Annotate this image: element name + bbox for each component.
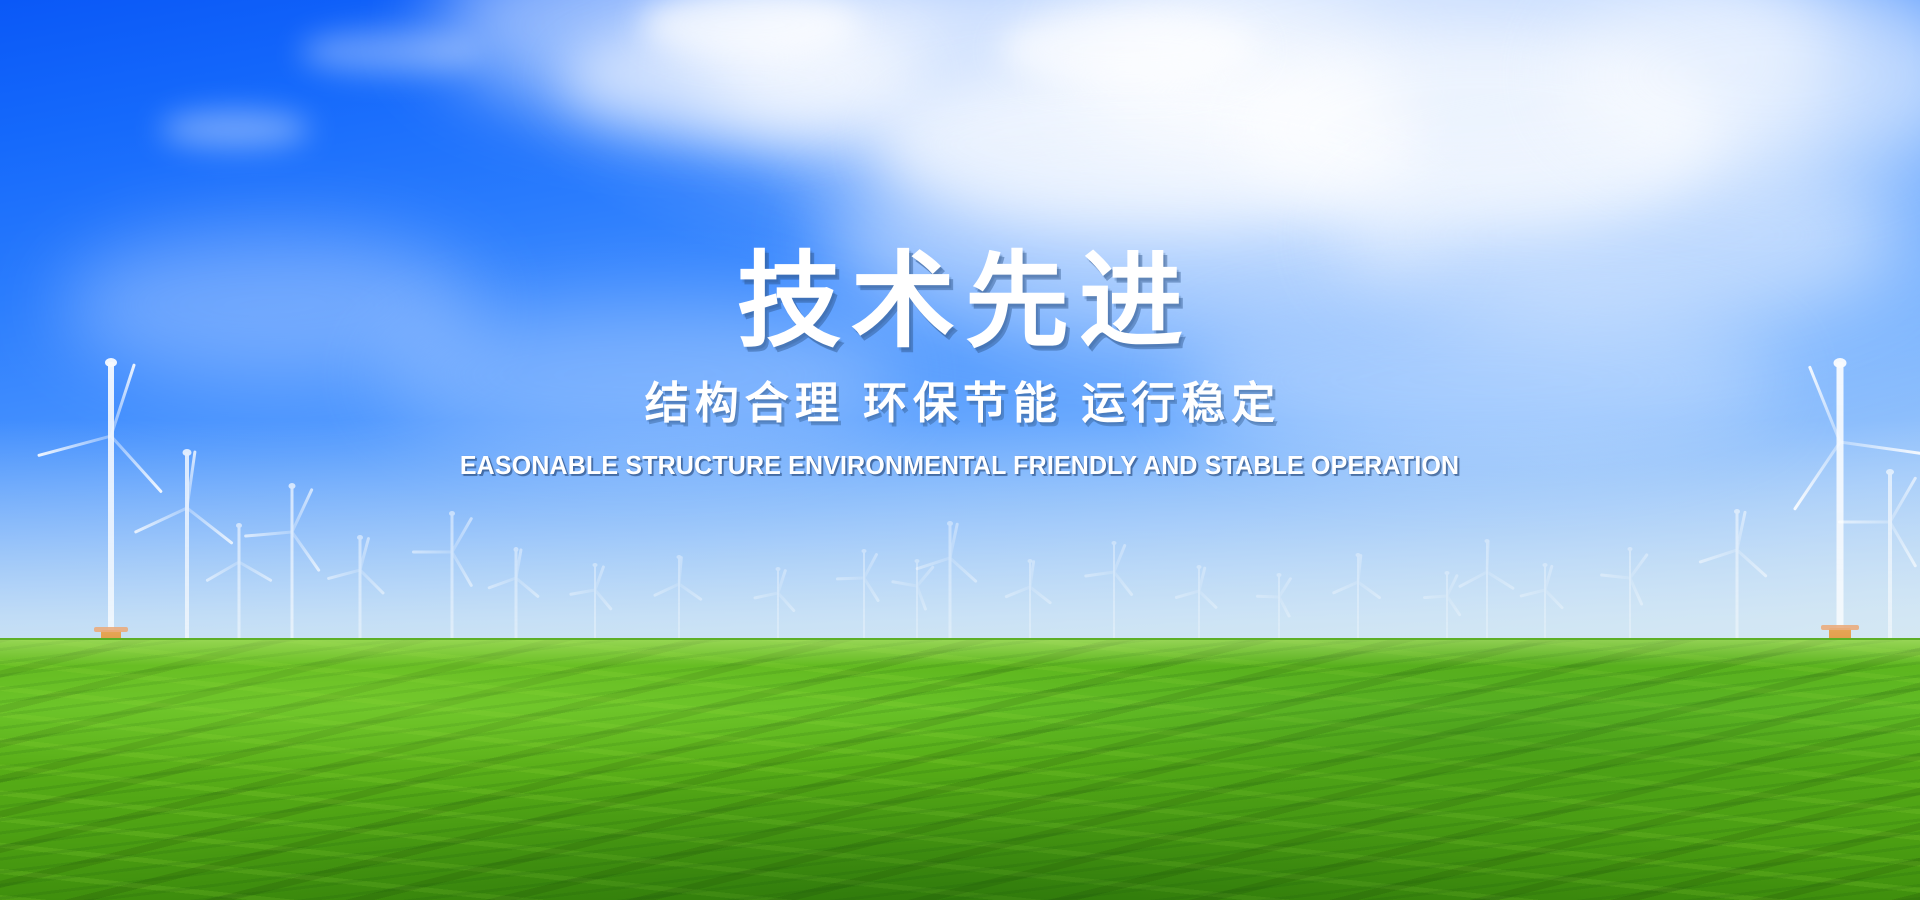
wind-turbine-farm	[0, 0, 1920, 660]
hero-banner: 技术先进 结构合理 环保节能 运行稳定 EASONABLE STRUCTURE …	[0, 0, 1920, 900]
wind-turbine-icon	[152, 450, 222, 660]
grass-field	[0, 638, 1920, 900]
wind-turbine-icon	[262, 484, 322, 660]
wind-turbine-icon	[1862, 470, 1918, 660]
wind-turbine-icon	[66, 360, 156, 660]
horizon-line	[0, 640, 1920, 666]
